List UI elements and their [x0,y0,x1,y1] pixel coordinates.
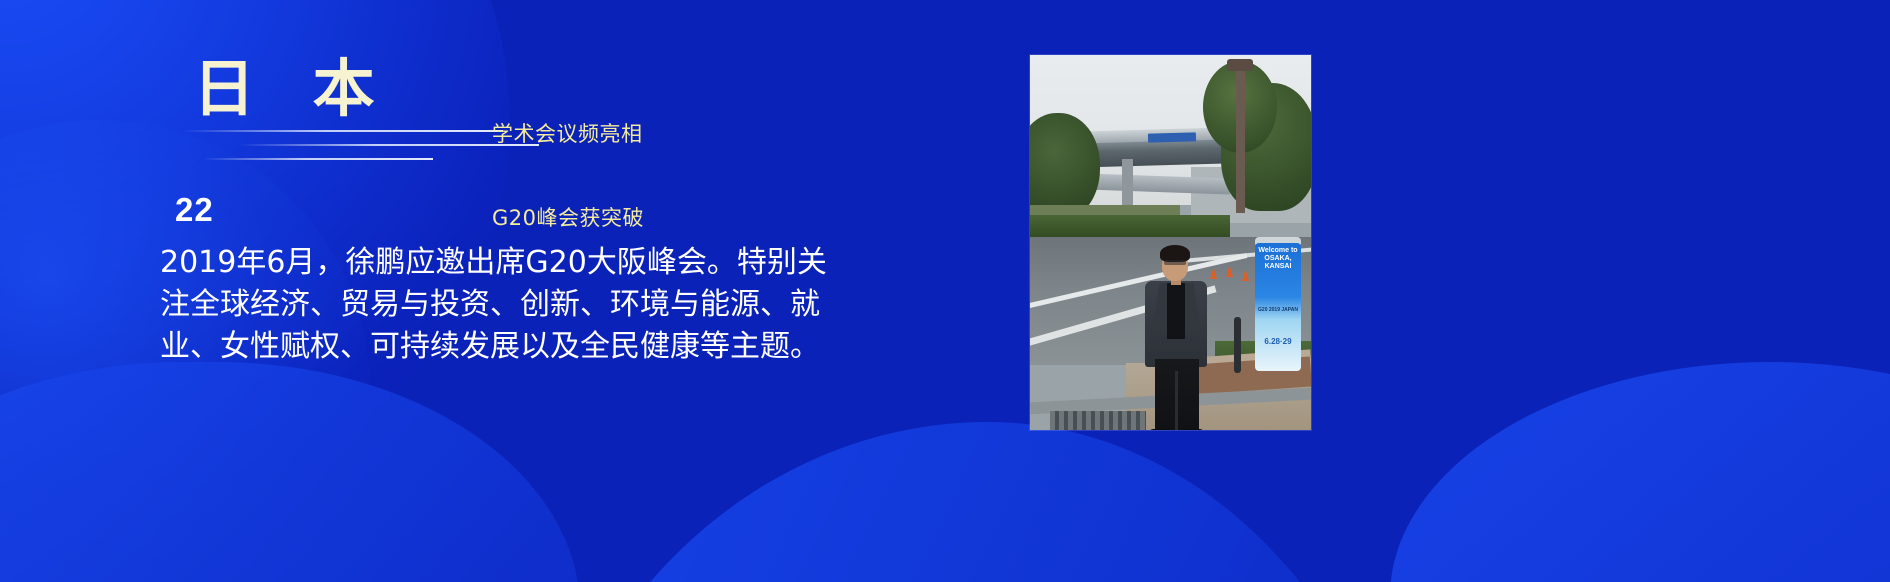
photo-ad-event-text: G20 2019 JAPAN [1257,307,1299,314]
photo-person-trouser-seam [1175,371,1178,430]
photo-ad-date-text: 6.28·29 [1257,337,1299,346]
photo-person-shirt [1167,283,1185,339]
photo-street-lamp [1227,59,1253,71]
presentation-slide: 日 本 学术会议频亮相 G20峰会获突破 22 2019年6月，徐鹏应邀出席G2… [0,0,1890,582]
photo-drain-grate [1050,411,1146,430]
photo-highway-sign [1148,132,1196,142]
decorative-line-1 [183,130,503,132]
decorative-line-3 [203,158,433,160]
subtitle-line-1: 学术会议频亮相 [492,120,644,148]
photo-ad-welcome-text: Welcome to OSAKA, KANSAI [1257,247,1299,271]
photo-street-pole [1236,63,1245,213]
photo-bollard [1234,317,1241,373]
photo-hedge [1030,215,1230,239]
page-title: 日 本 [193,58,533,120]
photo-person-glasses [1164,260,1186,265]
title-decorative-rules [193,122,523,172]
photo-ad-welcome-line: Welcome to [1258,247,1297,254]
photo-ad-city-line: OSAKA, KANSAI [1264,255,1291,270]
title-block: 日 本 [193,58,533,120]
subtitle-line-2: G20峰会获突破 [492,204,644,232]
item-number: 22 [175,193,214,226]
photo-person-shoe-left [1149,429,1175,430]
body-paragraph: 2019年6月，徐鹏应邀出席G20大阪峰会。特别关注全球经济、贸易与投资、创新、… [160,242,840,368]
photo-ad-event-line: G20 2019 JAPAN [1258,307,1298,313]
photo-osaka-g20: Welcome to OSAKA, KANSAI G20 2019 JAPAN … [1030,55,1311,430]
photo-person-shoe-right [1178,429,1204,430]
photo-ad-date-line: 6.28·29 [1264,337,1291,346]
